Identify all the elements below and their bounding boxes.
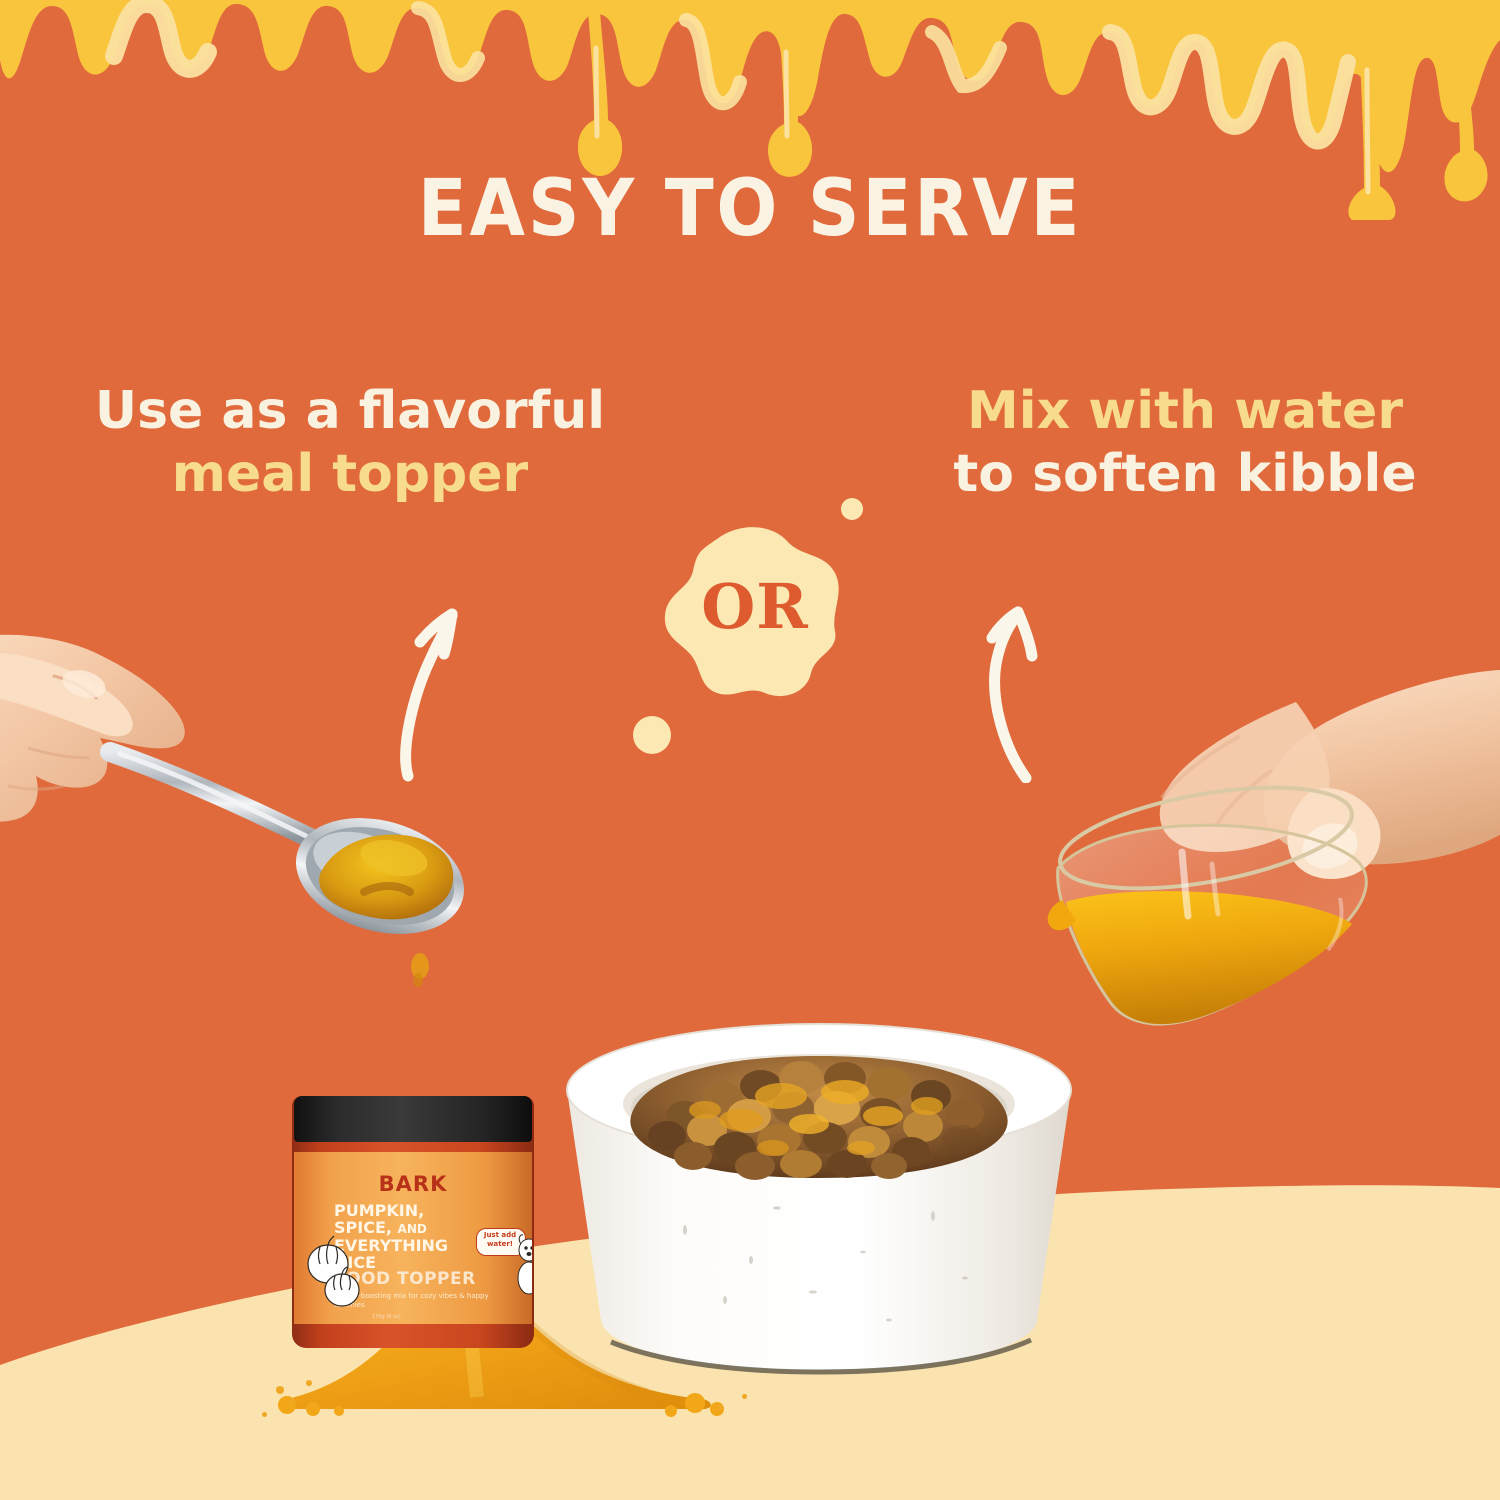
page-title: EASY TO SERVE	[60, 170, 1440, 248]
product-name-line2-suffix: AND	[398, 1222, 427, 1236]
hand-holding-spoon	[0, 630, 530, 1030]
brand-logo: BARK	[294, 1172, 532, 1196]
powder-crumb	[290, 1398, 295, 1403]
option-right-caption: Mix with water to soften kibble	[900, 380, 1470, 507]
option-left-caption: Use as a flavorful meal topper	[40, 380, 660, 507]
pumpkin-illustration	[298, 1232, 370, 1318]
jar-lid	[294, 1096, 532, 1142]
option-left-line1: Use as a flavorful	[40, 380, 660, 443]
powder-crumb	[742, 1394, 747, 1399]
powder-crumb	[262, 1412, 267, 1417]
powder-crumb	[276, 1386, 284, 1394]
powder-crumb	[306, 1380, 312, 1386]
hand-holding-glass-pitcher	[1000, 640, 1500, 1040]
option-left-line2: meal topper	[40, 443, 660, 506]
product-marketing-image: EASY TO SERVE Use as a flavorful meal to…	[0, 0, 1500, 1500]
dog-illustration	[516, 1228, 532, 1298]
or-label: OR	[655, 570, 855, 643]
jar-label: BARK PUMPKIN, SPICE, AND EVERYTHING NICE…	[294, 1152, 532, 1324]
product-jar[interactable]: BARK PUMPKIN, SPICE, AND EVERYTHING NICE…	[292, 1096, 534, 1348]
powder-crumb	[716, 1404, 723, 1411]
product-weight: 170g (6 oz)	[372, 1314, 401, 1320]
option-right-line1: Mix with water	[900, 380, 1470, 443]
product-name-line1: PUMPKIN,	[334, 1201, 424, 1220]
option-right-line2: to soften kibble	[900, 443, 1470, 506]
or-dot-bottom	[633, 716, 671, 754]
or-dot-top	[841, 498, 863, 520]
